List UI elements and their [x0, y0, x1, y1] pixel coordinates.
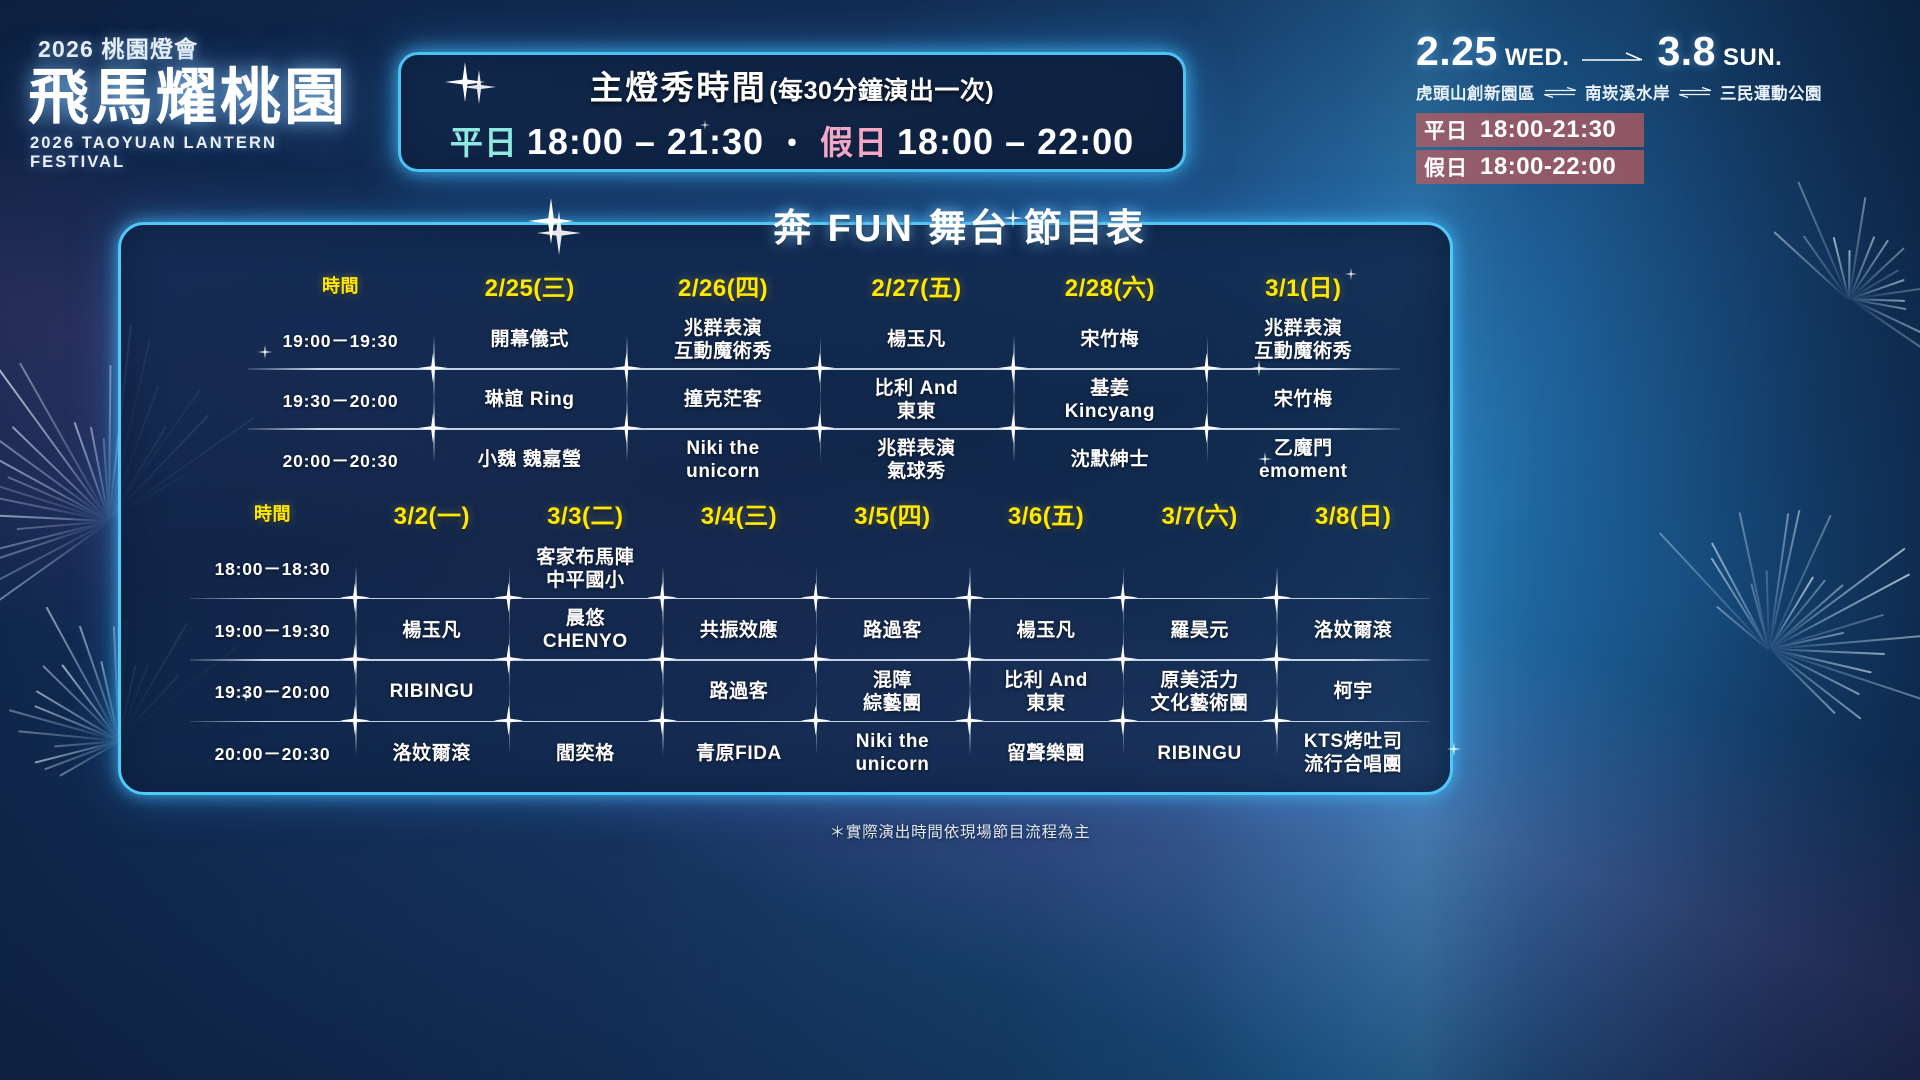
schedule-program-cell: 原美活力 文化藝術團	[1123, 661, 1277, 723]
schedule-program-cell: RIBINGU	[1123, 723, 1277, 785]
schedule-program-cell: 共振效應	[662, 600, 816, 662]
schedule-program-cell: 羅昊元	[1123, 600, 1277, 662]
schedule-program-cell: 撞克茫客	[626, 370, 819, 430]
schedule-header-date-2: 3/3(二)	[509, 496, 663, 530]
schedule-column-tick	[1013, 336, 1015, 402]
schedule-column-tick	[626, 336, 628, 402]
schedule-program-cell: 乙魔門 emoment	[1207, 430, 1400, 490]
schedule-program-cell: KTS烤吐司 流行合唱團	[1276, 723, 1430, 785]
schedule-program-cell: 青原FIDA	[662, 723, 816, 785]
schedule-time-cell: 20:00－20:30	[248, 430, 433, 490]
schedule-time-cell: 19:30－20:00	[190, 661, 355, 723]
schedule-column-tick	[433, 336, 435, 402]
schedule-column-tick	[969, 566, 971, 632]
schedule-program-cell: 小魏 魏嘉瑩	[433, 430, 626, 490]
schedule-program-cell: 比利 And 東東	[820, 370, 1013, 430]
schedule-program-cell: 楊玉凡	[355, 600, 509, 662]
schedule-column-tick	[509, 627, 511, 693]
schedule-tables-layer: 時間2/25(三)2/26(四)2/27(五)2/28(六)3/1(日)19:0…	[0, 0, 1920, 1080]
schedule-column-tick	[820, 336, 822, 402]
schedule-program-cell: 兆群表演 氣球秀	[820, 430, 1013, 490]
schedule-program-cell	[509, 661, 663, 723]
schedule-column-tick	[1276, 566, 1278, 632]
schedule-program-cell: 開幕儀式	[433, 310, 626, 370]
schedule-row-divider	[190, 598, 1430, 600]
schedule-column-tick	[509, 689, 511, 755]
schedule-column-tick	[1207, 396, 1209, 462]
schedule-header-date-3: 2/27(五)	[820, 268, 1013, 302]
schedule-program-cell	[969, 538, 1123, 600]
schedule-column-tick	[1207, 336, 1209, 402]
schedule-column-tick	[816, 566, 818, 632]
schedule-header-date-5: 3/1(日)	[1207, 268, 1400, 302]
schedule-program-cell: Niki the unicorn	[626, 430, 819, 490]
schedule-column-tick	[969, 627, 971, 693]
schedule-footnote: ＊實際演出時間依現場節目流程為主	[0, 820, 1920, 842]
schedule-program-cell: 宋竹梅	[1207, 370, 1400, 430]
schedule-column-tick	[1123, 689, 1125, 755]
schedule-program-cell	[355, 538, 509, 600]
schedule-row-divider	[190, 659, 1430, 661]
schedule-column-tick	[662, 566, 664, 632]
schedule-column-tick	[816, 627, 818, 693]
schedule-column-tick	[433, 396, 435, 462]
schedule-program-cell	[1123, 538, 1277, 600]
schedule-header-date-4: 2/28(六)	[1013, 268, 1206, 302]
schedule-row-divider	[190, 721, 1430, 723]
schedule-program-cell: 基姜 Kincyang	[1013, 370, 1206, 430]
schedule-column-tick	[1123, 566, 1125, 632]
schedule-program-cell: 路過客	[816, 600, 970, 662]
schedule-header-date-2: 2/26(四)	[626, 268, 819, 302]
schedule-program-cell: 洛妏爾滾	[355, 723, 509, 785]
schedule-program-cell: RIBINGU	[355, 661, 509, 723]
schedule-column-tick	[662, 689, 664, 755]
schedule-row-divider	[248, 428, 1400, 430]
schedule-program-cell	[662, 538, 816, 600]
schedule-row-divider	[248, 368, 1400, 370]
schedule-column-tick	[1013, 396, 1015, 462]
schedule-program-cell: 楊玉凡	[969, 600, 1123, 662]
schedule-program-cell: 沈默紳士	[1013, 430, 1206, 490]
schedule-column-tick	[355, 627, 357, 693]
schedule-time-cell: 20:00－20:30	[190, 723, 355, 785]
schedule-header-date-4: 3/5(四)	[816, 496, 970, 530]
schedule-header-date-6: 3/7(六)	[1123, 496, 1277, 530]
schedule-column-tick	[1276, 627, 1278, 693]
schedule-column-tick	[355, 566, 357, 632]
schedule-column-tick	[662, 627, 664, 693]
schedule-column-tick	[626, 396, 628, 462]
schedule-column-tick	[969, 689, 971, 755]
schedule-program-cell: 楊玉凡	[820, 310, 1013, 370]
schedule-time-cell: 19:30－20:00	[248, 370, 433, 430]
schedule-column-tick	[816, 689, 818, 755]
schedule-time-cell: 19:00－19:30	[190, 600, 355, 662]
schedule-program-cell: 柯宇	[1276, 661, 1430, 723]
schedule-program-cell: 閻奕格	[509, 723, 663, 785]
schedule-program-cell: Niki the unicorn	[816, 723, 970, 785]
schedule-header-date-3: 3/4(三)	[662, 496, 816, 530]
schedule-program-cell	[816, 538, 970, 600]
schedule-header-date-7: 3/8(日)	[1276, 496, 1430, 530]
schedule-header-time: 時間	[248, 268, 433, 302]
schedule-program-cell: 宋竹梅	[1013, 310, 1206, 370]
schedule-program-cell	[1276, 538, 1430, 600]
schedule-program-cell: 兆群表演 互動魔術秀	[626, 310, 819, 370]
schedule-program-cell: 晨悠 CHENYO	[509, 600, 663, 662]
schedule-column-tick	[355, 689, 357, 755]
schedule-header-date-1: 2/25(三)	[433, 268, 626, 302]
schedule-program-cell: 琳誼 Ring	[433, 370, 626, 430]
schedule-header-date-5: 3/6(五)	[969, 496, 1123, 530]
schedule-program-cell: 路過客	[662, 661, 816, 723]
schedule-column-tick	[820, 396, 822, 462]
schedule-time-cell: 18:00－18:30	[190, 538, 355, 600]
schedule-column-tick	[509, 566, 511, 632]
schedule-program-cell: 客家布馬陣 中平國小	[509, 538, 663, 600]
schedule-program-cell: 比利 And 東東	[969, 661, 1123, 723]
schedule-program-cell: 兆群表演 互動魔術秀	[1207, 310, 1400, 370]
schedule-program-cell: 留聲樂團	[969, 723, 1123, 785]
schedule-time-cell: 19:00－19:30	[248, 310, 433, 370]
schedule-header-date-1: 3/2(一)	[355, 496, 509, 530]
schedule-program-cell: 洛妏爾滾	[1276, 600, 1430, 662]
schedule-header-time: 時間	[190, 496, 355, 530]
schedule-column-tick	[1276, 689, 1278, 755]
schedule-column-tick	[1123, 627, 1125, 693]
schedule-program-cell: 混障 綜藝團	[816, 661, 970, 723]
